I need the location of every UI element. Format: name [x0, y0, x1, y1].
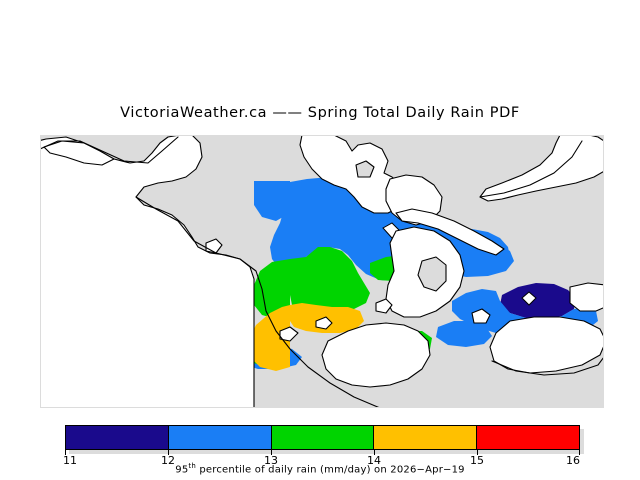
map-svg	[40, 135, 604, 408]
map-canvas[interactable]	[40, 135, 604, 408]
colorbar-caption: 95th percentile of daily rain (mm/day) o…	[0, 462, 640, 475]
colorbar-segment-12-13[interactable]	[169, 426, 272, 449]
caption-rest: percentile of daily rain (mm/day) on 202…	[196, 464, 465, 475]
colorbar-segment-11-12[interactable]	[66, 426, 169, 449]
colorbar-segment-15-16[interactable]	[477, 426, 579, 449]
colorbar-segment-14-15[interactable]	[374, 426, 477, 449]
page-title: VictoriaWeather.ca —— Spring Total Daily…	[0, 105, 640, 121]
caption-superscript: th	[188, 462, 196, 470]
colorbar-segments[interactable]	[65, 425, 580, 450]
land-far-right-inlet	[570, 283, 604, 311]
colorbar[interactable]	[65, 425, 580, 450]
weather-map-page: VictoriaWeather.ca —— Spring Total Daily…	[0, 0, 640, 480]
colorbar-segment-13-14[interactable]	[272, 426, 375, 449]
caption-prefix: 95	[175, 464, 188, 475]
